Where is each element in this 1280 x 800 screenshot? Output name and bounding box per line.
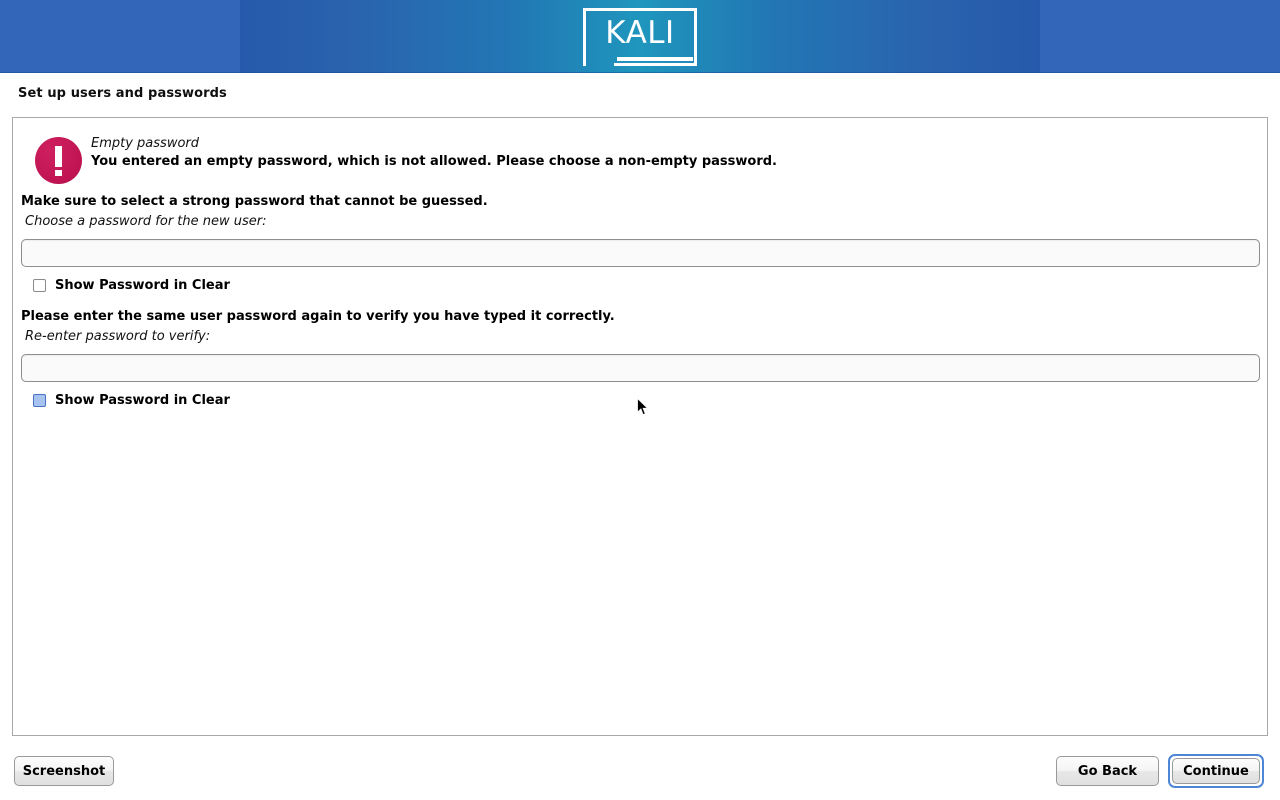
verify-password-hint: Please enter the same user password agai…	[21, 309, 615, 324]
banner-bottom-divider	[0, 72, 1280, 73]
password-field-label: Choose a password for the new user:	[25, 214, 267, 229]
show-password-label-2: Show Password in Clear	[55, 393, 230, 408]
exclamation-stem	[55, 146, 62, 167]
go-back-button[interactable]: Go Back	[1056, 756, 1159, 786]
error-exclamation-icon	[35, 137, 82, 184]
strong-password-hint: Make sure to select a strong password th…	[21, 194, 488, 209]
error-message: You entered an empty password, which is …	[91, 154, 777, 169]
verify-field-label: Re-enter password to verify:	[25, 329, 210, 344]
show-password-row-2[interactable]: Show Password in Clear	[33, 391, 230, 409]
kali-logo-text: KALI	[583, 8, 697, 58]
page-title: Set up users and passwords	[18, 86, 227, 101]
show-password-checkbox-1[interactable]	[33, 279, 46, 292]
error-title: Empty password	[91, 136, 199, 151]
continue-button[interactable]: Continue	[1172, 758, 1260, 784]
kali-logo: KALI	[583, 8, 697, 66]
installer-content-panel: Empty password You entered an empty pass…	[12, 117, 1268, 736]
show-password-row-1[interactable]: Show Password in Clear	[33, 276, 230, 294]
password-input[interactable]	[21, 239, 1260, 267]
exclamation-dot	[55, 170, 62, 176]
show-password-label-1: Show Password in Clear	[55, 278, 230, 293]
verify-password-input[interactable]	[21, 354, 1260, 382]
kali-logo-frame-bottom	[614, 63, 697, 66]
kali-banner: KALI	[0, 0, 1280, 73]
show-password-checkbox-2[interactable]	[33, 394, 46, 407]
screenshot-button[interactable]: Screenshot	[14, 756, 114, 786]
